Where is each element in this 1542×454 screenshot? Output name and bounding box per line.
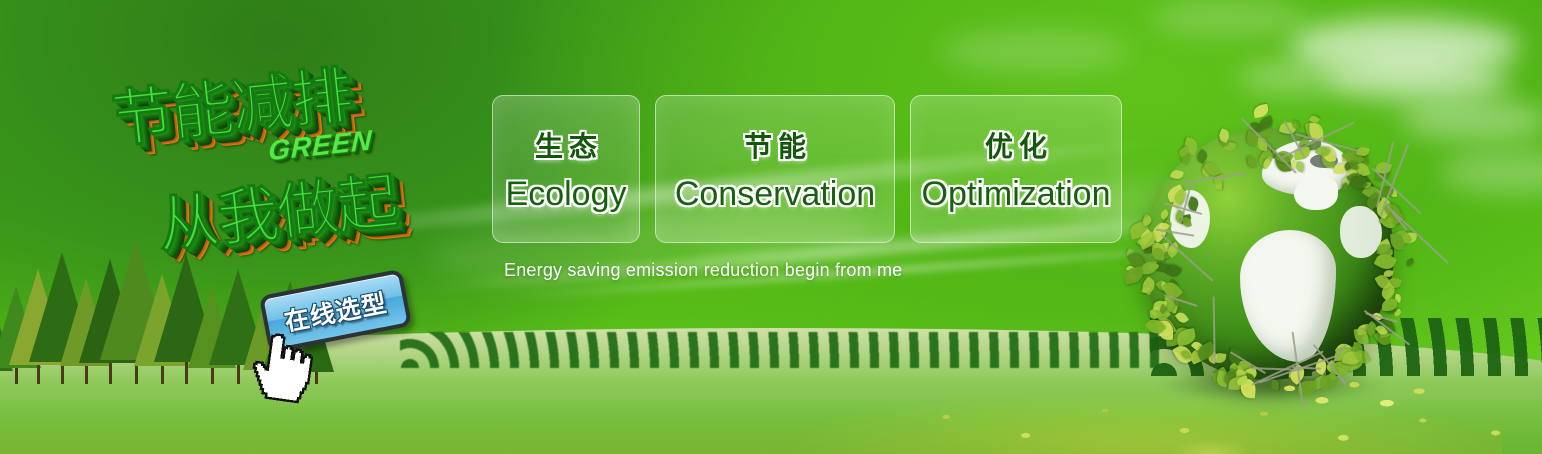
feature-card-optimization[interactable]: 优化 Optimization: [910, 95, 1122, 243]
cloud-icon: [1330, 58, 1510, 102]
headline-artwork: 节能减排 从我做起 GREEN: [88, 20, 512, 310]
continent-east-edge: [1340, 206, 1382, 258]
ivy-leaf-icon: [1392, 213, 1404, 224]
ivy-leaf-icon: [1126, 265, 1136, 275]
ivy-leaf-icon: [1291, 120, 1299, 130]
ivy-leaf-icon: [1309, 114, 1320, 125]
cloud-icon: [1400, 100, 1542, 140]
feature-card-zh-label: 节能: [738, 125, 812, 165]
green-leaf-globe-icon: [1118, 118, 1418, 430]
ivy-leaf-icon: [1344, 351, 1358, 369]
ivy-leaf-icon: [1127, 270, 1138, 281]
feature-card-en-label: Optimization: [922, 175, 1111, 214]
ivy-leaf-icon: [1123, 266, 1145, 285]
continent-south-america: [1240, 230, 1336, 362]
continent-west-edge: [1170, 190, 1210, 248]
polar-cap-shade: [1310, 154, 1338, 168]
ivy-leaf-icon: [1333, 360, 1344, 370]
ivy-leaf-icon: [1375, 168, 1390, 180]
feature-card-zh-label: 生态: [529, 125, 603, 165]
continent-central-america: [1294, 176, 1338, 210]
ivy-leaf-icon: [1374, 328, 1393, 348]
online-selection-label: 在线选型: [281, 283, 390, 338]
globe-sphere: [1142, 128, 1394, 380]
ivy-leaf-icon: [1353, 348, 1370, 366]
ivy-leaf-icon: [1379, 325, 1393, 337]
green-energy-banner: 节能减排 从我做起 GREEN 在线选型 生态 Ecology 节能 Conse…: [0, 0, 1542, 454]
ivy-leaf-icon: [1394, 228, 1412, 247]
ivy-leaf-icon: [1126, 248, 1136, 259]
cloud-icon: [1150, 0, 1310, 36]
fallen-leaves-decoration: [1268, 370, 1448, 416]
cloud-icon: [1238, 60, 1358, 94]
ivy-leaf-icon: [1374, 160, 1392, 176]
cloud-icon: [940, 30, 1130, 72]
feature-card-ecology[interactable]: 生态 Ecology: [492, 95, 640, 243]
feature-card-en-label: Conservation: [675, 175, 875, 214]
ivy-leaf-icon: [1394, 309, 1403, 317]
ivy-leaf-icon: [1389, 188, 1397, 197]
ivy-leaf-icon: [1405, 258, 1414, 266]
vine-stem-icon: [1391, 210, 1448, 263]
feature-card-en-label: Ecology: [506, 175, 627, 214]
ivy-leaf-icon: [1394, 293, 1402, 302]
cloud-icon: [1290, 18, 1520, 74]
feature-card-list: 生态 Ecology 节能 Conservation 优化 Optimizati…: [492, 95, 1122, 243]
ivy-leaf-icon: [1379, 186, 1394, 198]
ivy-leaf-icon: [1356, 146, 1370, 158]
banner-tagline: Energy saving emission reduction begin f…: [504, 260, 902, 281]
cloud-icon: [1440, 150, 1542, 194]
ivy-leaf-icon: [1401, 231, 1417, 244]
ivy-leaf-icon: [1353, 152, 1366, 163]
hand-pointer-icon: [243, 325, 327, 413]
ivy-leaf-icon: [1252, 104, 1269, 119]
feature-card-zh-label: 优化: [979, 125, 1053, 165]
ivy-leaf-icon: [1375, 323, 1388, 336]
ivy-leaf-icon: [1380, 318, 1395, 335]
ivy-leaf-icon: [1344, 355, 1363, 371]
feature-card-conservation[interactable]: 节能 Conservation: [655, 95, 895, 243]
